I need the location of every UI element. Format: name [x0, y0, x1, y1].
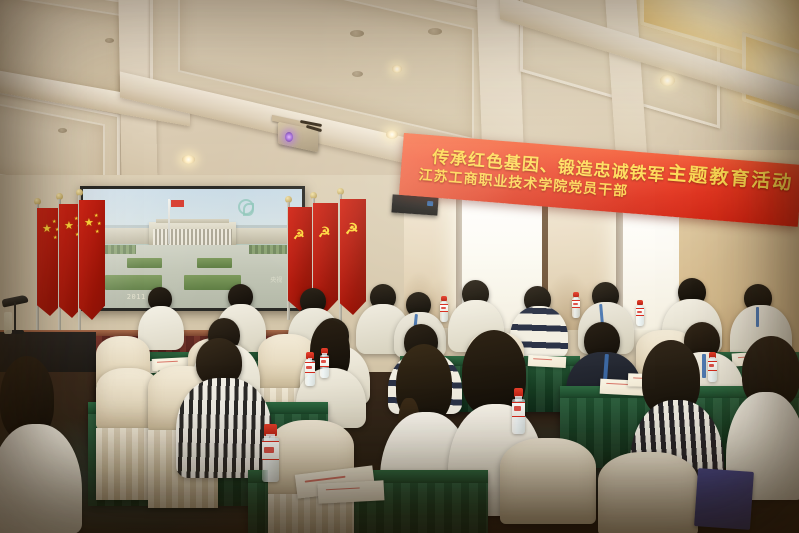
water-bottle [708, 352, 717, 382]
banner-title-text: 主题教育活动 [667, 158, 795, 195]
ceiling-vent-icon [58, 128, 67, 133]
water-bottle [512, 388, 525, 434]
head-table-bottle [4, 312, 12, 334]
chair [598, 452, 698, 533]
lanyard [756, 307, 759, 327]
water-bottle [262, 424, 279, 482]
ceiling-downlight [182, 155, 195, 164]
ceiling-downlight [386, 130, 398, 139]
projector-lens-icon [285, 132, 293, 142]
conference-room-photo: 传承红色基因、锻造忠诚铁军 江苏工商职业技术学院党员干部 主题教育活动 2011… [0, 0, 799, 533]
lanyard [702, 354, 706, 378]
water-bottle [572, 292, 580, 318]
ceiling-downlight [660, 75, 675, 86]
ceiling-downlight [392, 65, 402, 73]
handout-paper [528, 355, 567, 368]
ceiling-vent-icon [428, 28, 442, 35]
speaker-led-icon [427, 201, 433, 206]
tote-bag [694, 468, 754, 530]
chair [500, 438, 596, 524]
water-bottle [440, 296, 448, 322]
ceiling-vent-icon [105, 38, 114, 43]
handout-paper [318, 480, 385, 503]
projection-screen: 2011 央视 [80, 186, 305, 311]
ceiling-vent-icon [352, 71, 363, 77]
wall-speaker [391, 194, 438, 215]
water-bottle [320, 348, 329, 378]
projection-screen-image: 2011 央视 [83, 189, 302, 308]
ceiling-vent-icon [350, 30, 364, 37]
water-bottle [305, 352, 315, 386]
water-bottle [636, 300, 644, 326]
